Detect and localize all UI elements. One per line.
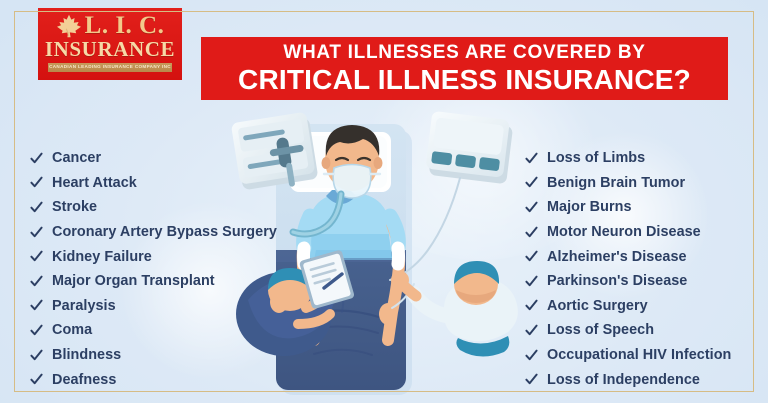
check-icon bbox=[525, 226, 538, 239]
list-item-label: Heart Attack bbox=[52, 175, 137, 191]
list-item-label: Benign Brain Tumor bbox=[547, 175, 685, 191]
logo-insurance-text: INSURANCE bbox=[45, 39, 175, 60]
list-item-label: Loss of Speech bbox=[547, 322, 654, 338]
list-item: Occupational HIV Infection bbox=[525, 343, 765, 368]
check-icon bbox=[30, 299, 43, 312]
list-item-label: Paralysis bbox=[52, 298, 116, 314]
covered-illness-list-left: CancerHeart AttackStrokeCoronary Artery … bbox=[30, 146, 330, 392]
list-item-label: Parkinson's Disease bbox=[547, 273, 687, 289]
check-icon bbox=[30, 349, 43, 362]
list-item-label: Alzheimer's Disease bbox=[547, 249, 687, 265]
infographic-canvas: L. I. C. INSURANCE CANADIAN LEADING INSU… bbox=[0, 0, 768, 403]
list-item-label: Blindness bbox=[52, 347, 121, 363]
list-item-label: Cancer bbox=[52, 150, 101, 166]
list-item: Kidney Failure bbox=[30, 244, 330, 269]
lic-insurance-logo[interactable]: L. I. C. INSURANCE CANADIAN LEADING INSU… bbox=[38, 8, 182, 80]
list-item: Deafness bbox=[30, 367, 330, 392]
list-item-label: Occupational HIV Infection bbox=[547, 347, 731, 363]
check-icon bbox=[525, 299, 538, 312]
check-icon bbox=[525, 373, 538, 386]
logo-tagline-text: CANADIAN LEADING INSURANCE COMPANY INC bbox=[49, 65, 171, 70]
list-item-label: Kidney Failure bbox=[52, 249, 152, 265]
check-icon bbox=[30, 275, 43, 288]
check-icon bbox=[30, 324, 43, 337]
maple-leaf-icon bbox=[56, 14, 82, 38]
list-item-label: Coronary Artery Bypass Surgery bbox=[52, 224, 277, 240]
check-icon bbox=[30, 201, 43, 214]
check-icon bbox=[30, 152, 43, 165]
list-item: Loss of Independence bbox=[525, 367, 765, 392]
list-item-label: Major Burns bbox=[547, 199, 632, 215]
headline-line-2: CRITICAL ILLNESS INSURANCE? bbox=[238, 65, 691, 94]
list-item-label: Deafness bbox=[52, 372, 116, 388]
list-item: Motor Neuron Disease bbox=[525, 220, 765, 245]
list-item-label: Loss of Limbs bbox=[547, 150, 645, 166]
list-item: Parkinson's Disease bbox=[525, 269, 765, 294]
list-item: Cancer bbox=[30, 146, 330, 171]
headline-line-1: WHAT ILLNESSES ARE COVERED BY bbox=[283, 43, 645, 63]
check-icon bbox=[525, 349, 538, 362]
list-item-label: Motor Neuron Disease bbox=[547, 224, 701, 240]
list-item: Coronary Artery Bypass Surgery bbox=[30, 220, 330, 245]
list-item: Benign Brain Tumor bbox=[525, 171, 765, 196]
list-item: Blindness bbox=[30, 343, 330, 368]
list-item: Aortic Surgery bbox=[525, 294, 765, 319]
list-item-label: Stroke bbox=[52, 199, 97, 215]
check-icon bbox=[30, 226, 43, 239]
check-icon bbox=[525, 275, 538, 288]
list-item: Alzheimer's Disease bbox=[525, 244, 765, 269]
list-item: Loss of Speech bbox=[525, 318, 765, 343]
check-icon bbox=[525, 324, 538, 337]
list-item: Heart Attack bbox=[30, 171, 330, 196]
check-icon bbox=[30, 373, 43, 386]
list-item-label: Loss of Independence bbox=[547, 372, 700, 388]
list-item-label: Major Organ Transplant bbox=[52, 273, 215, 289]
list-item-label: Coma bbox=[52, 322, 92, 338]
check-icon bbox=[525, 152, 538, 165]
logo-primary-row: L. I. C. bbox=[44, 13, 176, 38]
list-item: Paralysis bbox=[30, 294, 330, 319]
check-icon bbox=[525, 201, 538, 214]
check-icon bbox=[525, 176, 538, 189]
list-item: Major Organ Transplant bbox=[30, 269, 330, 294]
list-item-label: Aortic Surgery bbox=[547, 298, 648, 314]
check-icon bbox=[30, 250, 43, 263]
covered-illness-list-right: Loss of LimbsBenign Brain TumorMajor Bur… bbox=[525, 146, 765, 392]
list-item: Coma bbox=[30, 318, 330, 343]
list-item: Stroke bbox=[30, 195, 330, 220]
list-item: Major Burns bbox=[525, 195, 765, 220]
logo-lic-text: L. I. C. bbox=[85, 13, 165, 38]
logo-tagline-bar: CANADIAN LEADING INSURANCE COMPANY INC bbox=[48, 63, 172, 72]
check-icon bbox=[525, 250, 538, 263]
check-icon bbox=[30, 176, 43, 189]
headline-banner: WHAT ILLNESSES ARE COVERED BY CRITICAL I… bbox=[201, 37, 728, 100]
list-item: Loss of Limbs bbox=[525, 146, 765, 171]
